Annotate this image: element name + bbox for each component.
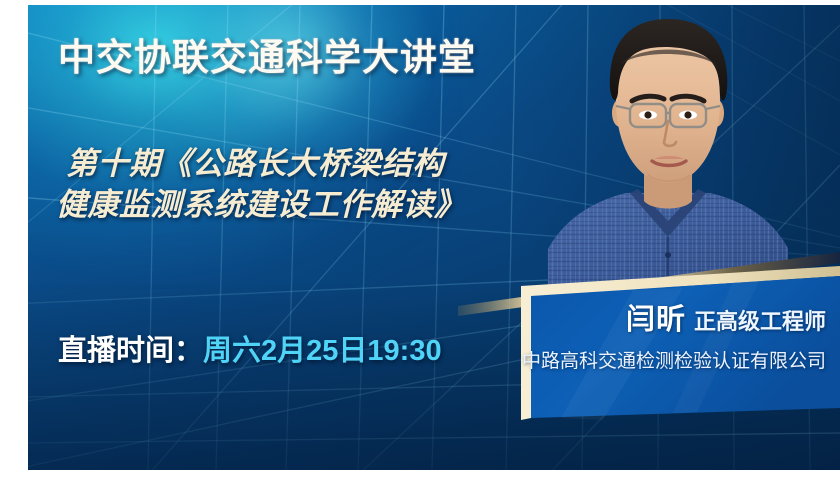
live-time-value: 周六2月25日19:30 — [203, 335, 442, 367]
page-title: 中交协联交通科学大讲堂 — [58, 27, 476, 81]
live-time-row: 直播时间：周六2月25日19:30 — [58, 327, 442, 369]
episode-subtitle-line1: 第十期《公路长大桥梁结构 — [66, 146, 444, 181]
webinar-poster: 闫昕正高级工程师 中路高科交通检测检验认证有限公司 中交协联交通科学大讲堂 第十… — [28, 5, 840, 470]
episode-subtitle: 第十期《公路长大桥梁结构 健康监测系统建设工作解读》 — [66, 143, 586, 225]
episode-subtitle-line2: 健康监测系统建设工作解读》 — [56, 184, 586, 225]
live-time-label: 直播时间： — [58, 335, 203, 367]
speaker-info-panel: 闫昕正高级工程师 中路高科交通检测检验认证有限公司 — [483, 260, 840, 440]
